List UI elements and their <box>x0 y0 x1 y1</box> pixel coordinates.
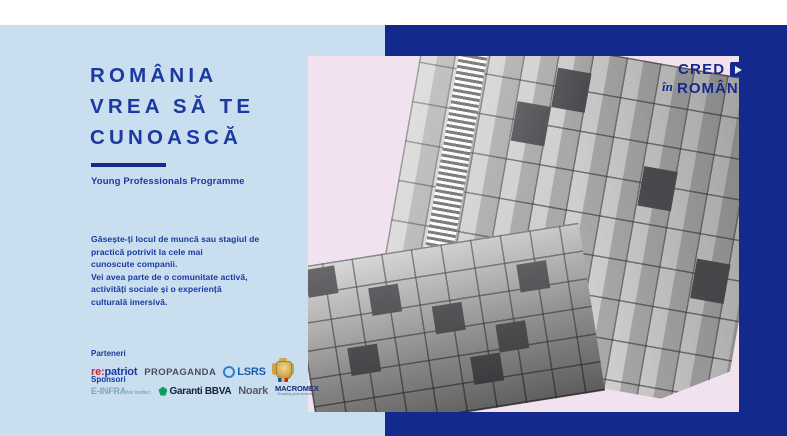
body-line-5: activități sociale și o experiență <box>91 283 303 296</box>
headline-line-1: ROMÂNIA <box>90 60 305 91</box>
headline-line-3: CUNOASCĂ <box>90 122 305 153</box>
programme-subtitle: Young Professionals Programme <box>91 176 245 187</box>
logo-einfra-tagline: for better. <box>126 390 151 396</box>
window-pane <box>516 260 550 292</box>
low-rise-facade-photo <box>308 223 605 412</box>
page-title: ROMÂNIA VREA SĂ TE CUNOASCĂ <box>90 60 305 153</box>
play-badge-icon <box>730 62 747 77</box>
window-pane <box>637 166 677 211</box>
logo-einfra: E-INFRAfor better. <box>91 386 151 396</box>
logo-garanti-bbva: Garanti BBVA <box>158 386 231 397</box>
chevron-right-icon <box>752 63 760 77</box>
title-divider <box>91 163 166 167</box>
body-line-4: Vei avea parte de o comunitate activă, <box>91 271 303 284</box>
body-line-1: Găsește-ți locul de muncă sau stagiul de <box>91 233 303 246</box>
window-pane <box>308 265 338 297</box>
window-pane <box>432 302 466 334</box>
logo-word-in: în <box>662 79 673 95</box>
garanti-leaf-icon <box>158 387 167 396</box>
body-description: Găsește-ți locul de muncă sau stagiul de… <box>91 233 303 309</box>
window-pane <box>690 259 730 304</box>
logo-propaganda: PROPAGANDA <box>144 367 216 378</box>
window-pane <box>495 320 529 352</box>
headline-line-2: VREA SĂ TE <box>90 91 305 122</box>
cred-in-romania-logo: CRED în ROMÂNIA <box>662 58 754 110</box>
window-pane <box>347 344 381 376</box>
sponsors-label: Sponsori <box>91 375 126 384</box>
logo-word-romania: ROMÂNIA <box>677 80 756 97</box>
coa-tricolor-base <box>278 378 288 382</box>
logo-lsrs-text: LSRS <box>237 366 266 378</box>
partners-label: Parteneri <box>91 349 126 358</box>
logo-top-row: CRED <box>678 62 760 77</box>
sponsors-logo-row: E-INFRAfor better. Garanti BBVA Noark MA… <box>91 385 319 397</box>
logo-garanti-text: Garanti BBVA <box>169 386 231 397</box>
logo-lsrs: LSRS <box>223 366 266 378</box>
logo-noark: Noark <box>238 385 268 397</box>
window-pane <box>511 101 551 146</box>
body-line-6: culturală imersivă. <box>91 296 303 309</box>
romania-coat-of-arms-icon <box>273 359 293 385</box>
lsrs-ring-icon <box>223 366 235 378</box>
logo-macromex: MACROMEX Growing your business <box>275 385 319 396</box>
logo-einfra-text: E-INFRA <box>91 386 126 396</box>
window-pane <box>368 284 402 316</box>
banner-canvas: CRED în ROMÂNIA ROMÂNIA VREA SĂ TE CUNOA… <box>0 0 787 436</box>
window-pane <box>470 353 504 385</box>
logo-macromex-tagline: Growing your business <box>275 393 319 397</box>
window-pane <box>551 68 591 113</box>
body-line-3: cunoscute companii. <box>91 258 303 271</box>
body-line-2: practică potrivit la cele mai <box>91 246 303 259</box>
logo-word-cred: CRED <box>678 62 725 77</box>
